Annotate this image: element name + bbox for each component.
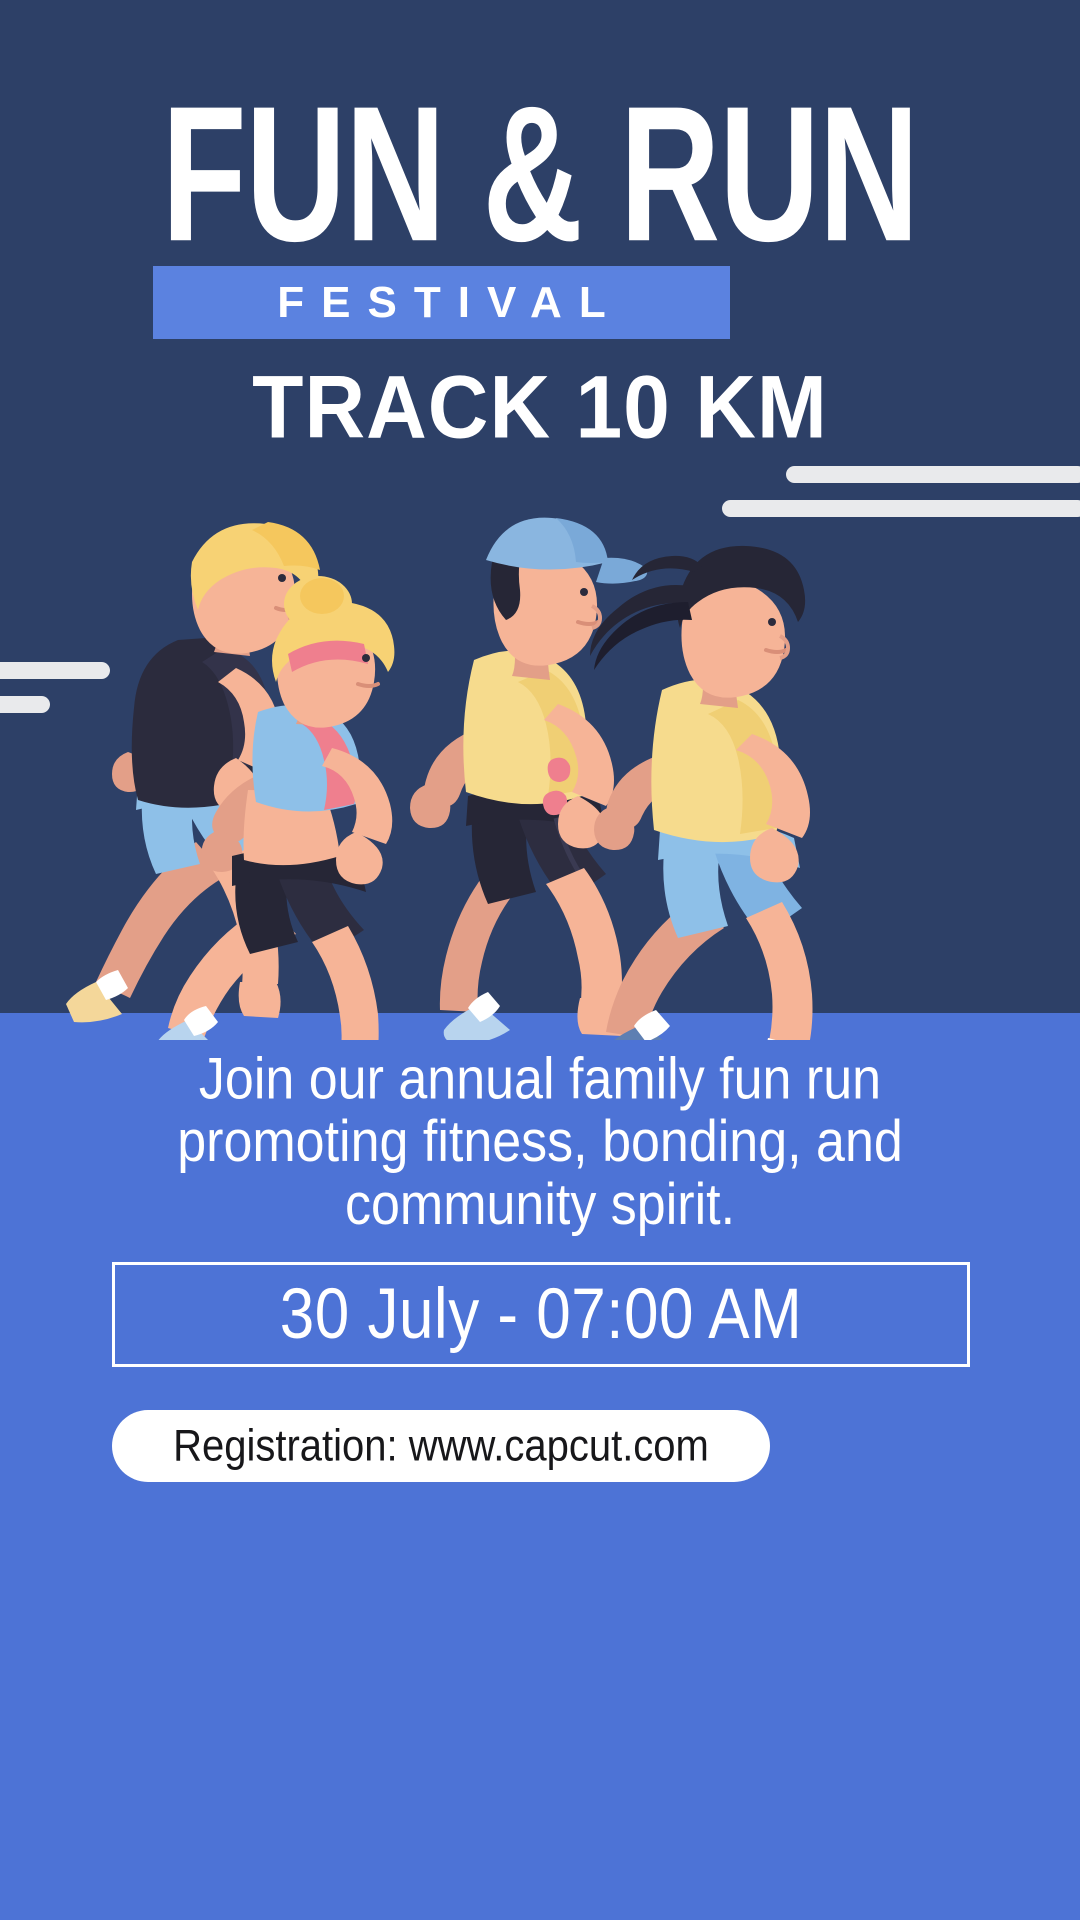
- festival-badge: FESTIVAL: [153, 266, 730, 339]
- page-title: FUN & RUN: [65, 78, 1015, 271]
- speed-dash-icon-top-right-1: [786, 466, 1080, 483]
- registration-button[interactable]: Registration: www.capcut.com: [112, 1410, 770, 1482]
- page-subtitle: TRACK 10 KM: [0, 358, 1080, 456]
- description-text: Join our annual family fun run promoting…: [90, 1048, 990, 1236]
- festival-badge-label: FESTIVAL: [153, 266, 730, 339]
- runner-4-figure: [590, 546, 822, 1040]
- date-time-box: 30 July - 07:00 AM: [112, 1262, 970, 1367]
- runner-3-figure: [410, 518, 647, 1040]
- poster-canvas: FUN & RUN FESTIVAL TRACK 10 KM: [0, 0, 1080, 1920]
- runners-illustration: [0, 500, 1080, 1040]
- registration-label: Registration: www.capcut.com: [173, 1424, 709, 1469]
- date-time-label: 30 July - 07:00 AM: [280, 1279, 803, 1350]
